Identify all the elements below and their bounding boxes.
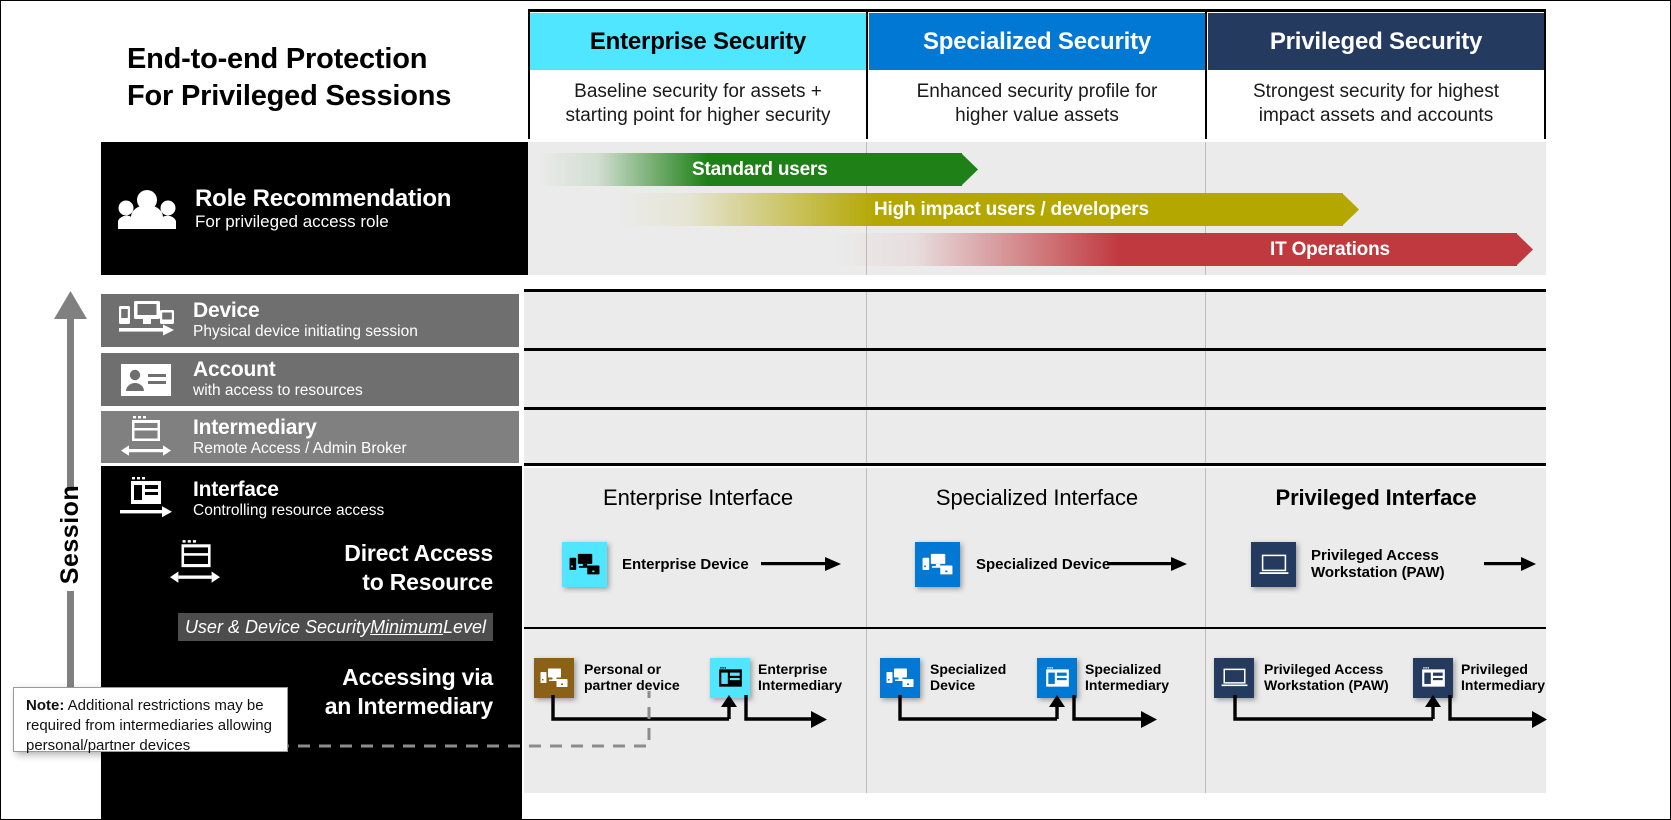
specialized-direct-access-arrow [1107, 557, 1187, 571]
direct-access-line1: Direct Access [231, 539, 493, 568]
header-top-rule [528, 9, 1546, 12]
row-label-role-recommendation[interactable]: Role Recommendation For privileged acces… [101, 142, 528, 275]
specialized-interface-heading: Specialized Interface [869, 485, 1205, 511]
column-header-enterprise-label: Enterprise Security [590, 28, 806, 56]
intermediary-grid-divider-2 [1205, 410, 1206, 463]
specialized-intermediary-connectors [869, 695, 1209, 735]
column-header-specialized[interactable]: Specialized Security [869, 13, 1205, 70]
direct-access-grid-divider-2 [1205, 468, 1206, 627]
row-label-interface-subtitle: Controlling resource access [193, 502, 384, 519]
laptop-icon [1259, 553, 1289, 577]
row-label-account-title: Account [193, 359, 363, 381]
row-label-device-title: Device [193, 300, 418, 322]
column-subtitle-privileged: Strongest security for highest impact as… [1208, 73, 1544, 135]
device-grid-divider-1 [866, 292, 867, 348]
column-header-specialized-label: Specialized Security [923, 28, 1151, 56]
column-subtitle-enterprise: Baseline security for assets + starting … [530, 73, 866, 135]
personal-device-label: Personal or partner device [584, 661, 704, 693]
high-impact-users-arrow-label: High impact users / developers [874, 199, 1149, 221]
high-impact-users-arrow[interactable]: High impact users / developers [617, 193, 1359, 226]
specialized-device-label: Specialized Device [976, 556, 1126, 573]
intermediary-access-divider-1 [866, 629, 867, 793]
specialized-intermediary-label: Specialized Intermediary [1085, 661, 1215, 693]
row-label-intermediary[interactable]: Intermediary Remote Access / Admin Broke… [101, 411, 519, 463]
direct-access-line2: to Resource [231, 568, 493, 597]
minimum-level-pre: User & Device Security [185, 617, 370, 638]
specialized-access-device-label: Specialized Device [930, 661, 1040, 693]
session-axis-arrow [53, 291, 89, 491]
broker-window-icon [1044, 667, 1071, 689]
column-subtitle-specialized: Enhanced security profile for higher val… [869, 73, 1205, 135]
direct-access-grid-divider-1 [866, 468, 867, 627]
people-group-icon [101, 142, 193, 275]
devices-icon [540, 668, 568, 689]
column-header-privileged[interactable]: Privileged Security [1208, 13, 1544, 70]
devices-arrow-icon [101, 294, 191, 347]
minimum-level-badge: User & Device Security Minimum Level [178, 613, 493, 641]
header-divider-mid1 [866, 9, 868, 139]
page-title-line2: For Privileged Sessions [127, 78, 527, 115]
column-header-enterprise[interactable]: Enterprise Security [530, 13, 866, 70]
it-operations-arrow[interactable]: IT Operations [833, 233, 1533, 266]
row-label-device-subtitle: Physical device initiating session [193, 323, 418, 340]
broker-window-arrows-icon [101, 411, 191, 463]
broker-window-icon [1420, 667, 1447, 689]
note-box: Note: Additional restrictions may be req… [13, 687, 288, 752]
enterprise-device-label: Enterprise Device [622, 556, 772, 573]
privileged-device-label: Privileged Access Workstation (PAW) [1311, 547, 1481, 582]
enterprise-intermediary-tile[interactable] [710, 658, 750, 698]
enterprise-intermediary-label: Enterprise Intermediary [758, 661, 888, 693]
devices-icon [922, 553, 953, 577]
enterprise-device-tile[interactable] [562, 542, 607, 587]
devices-icon [569, 553, 600, 577]
enterprise-interface-heading: Enterprise Interface [530, 485, 866, 511]
note-label: Note: [26, 697, 64, 714]
row-label-account[interactable]: Account with access to resources [101, 353, 519, 406]
row-label-device[interactable]: Device Physical device initiating sessio… [101, 294, 519, 347]
session-axis-label: Session [57, 484, 86, 583]
high-impact-users-arrow-head [1342, 193, 1359, 226]
it-operations-arrow-body [833, 233, 1517, 266]
broker-window-icon [717, 667, 744, 689]
intermediary-row-bottom-rule [524, 463, 1546, 466]
row-label-account-subtitle: with access to resources [193, 382, 363, 399]
row-label-intermediary-subtitle: Remote Access / Admin Broker [193, 440, 407, 457]
session-axis-label-wrap: Session [35, 479, 107, 589]
privileged-access-device-tile[interactable] [1214, 658, 1254, 698]
device-grid-divider-2 [1205, 292, 1206, 348]
account-grid-divider-1 [866, 351, 867, 407]
specialized-device-tile[interactable] [915, 542, 960, 587]
intermediary-grid-divider-1 [866, 410, 867, 463]
page-title-line1: End-to-end Protection [127, 41, 527, 78]
row-label-interface-title: Interface [193, 479, 384, 501]
column-header-privileged-label: Privileged Security [1270, 28, 1482, 56]
direct-access-label: Direct Access to Resource [231, 539, 493, 597]
standard-users-arrow[interactable]: Standard users [538, 153, 978, 186]
minimum-level-post: Level [443, 617, 486, 638]
devices-icon [886, 668, 914, 689]
privileged-direct-access-arrow [1484, 557, 1536, 571]
it-operations-arrow-head [1516, 233, 1533, 266]
enterprise-direct-access-arrow [761, 557, 841, 571]
account-row-grid [524, 351, 1546, 407]
device-row-grid [524, 292, 1546, 348]
account-grid-divider-2 [1205, 351, 1206, 407]
header-divider-mid2 [1205, 9, 1207, 139]
it-operations-arrow-label: IT Operations [1270, 239, 1390, 261]
intermediary-row-grid [524, 410, 1546, 463]
privileged-interface-heading: Privileged Interface [1208, 485, 1544, 511]
standard-users-arrow-head [961, 153, 978, 186]
row-label-interface[interactable]: Interface Controlling resource access [101, 471, 522, 527]
row-label-intermediary-title: Intermediary [193, 417, 407, 439]
row-label-role-subtitle: For privileged access role [195, 212, 451, 231]
privileged-device-tile[interactable] [1251, 542, 1296, 587]
row-label-role-title: Role Recommendation [195, 186, 451, 211]
privileged-intermediary-tile[interactable] [1413, 658, 1453, 698]
id-card-icon [101, 353, 191, 406]
specialized-access-device-tile[interactable] [880, 658, 920, 698]
privileged-intermediary-connectors [1207, 695, 1547, 735]
laptop-icon [1221, 667, 1248, 689]
minimum-level-underlined: Minimum [370, 617, 443, 638]
standard-users-arrow-label: Standard users [692, 159, 828, 181]
privileged-access-device-label: Privileged Access Workstation (PAW) [1264, 661, 1424, 693]
direct-access-icon [169, 539, 225, 591]
interface-window-arrow-icon [101, 471, 191, 527]
header-divider-right [1544, 9, 1546, 139]
header-divider-left [528, 9, 530, 139]
specialized-intermediary-tile[interactable] [1037, 658, 1077, 698]
privileged-intermediary-label: Privileged Intermediary [1461, 661, 1581, 693]
page-title: End-to-end Protection For Privileged Ses… [127, 41, 527, 115]
diagram-canvas: End-to-end Protection For Privileged Ses… [0, 0, 1671, 820]
